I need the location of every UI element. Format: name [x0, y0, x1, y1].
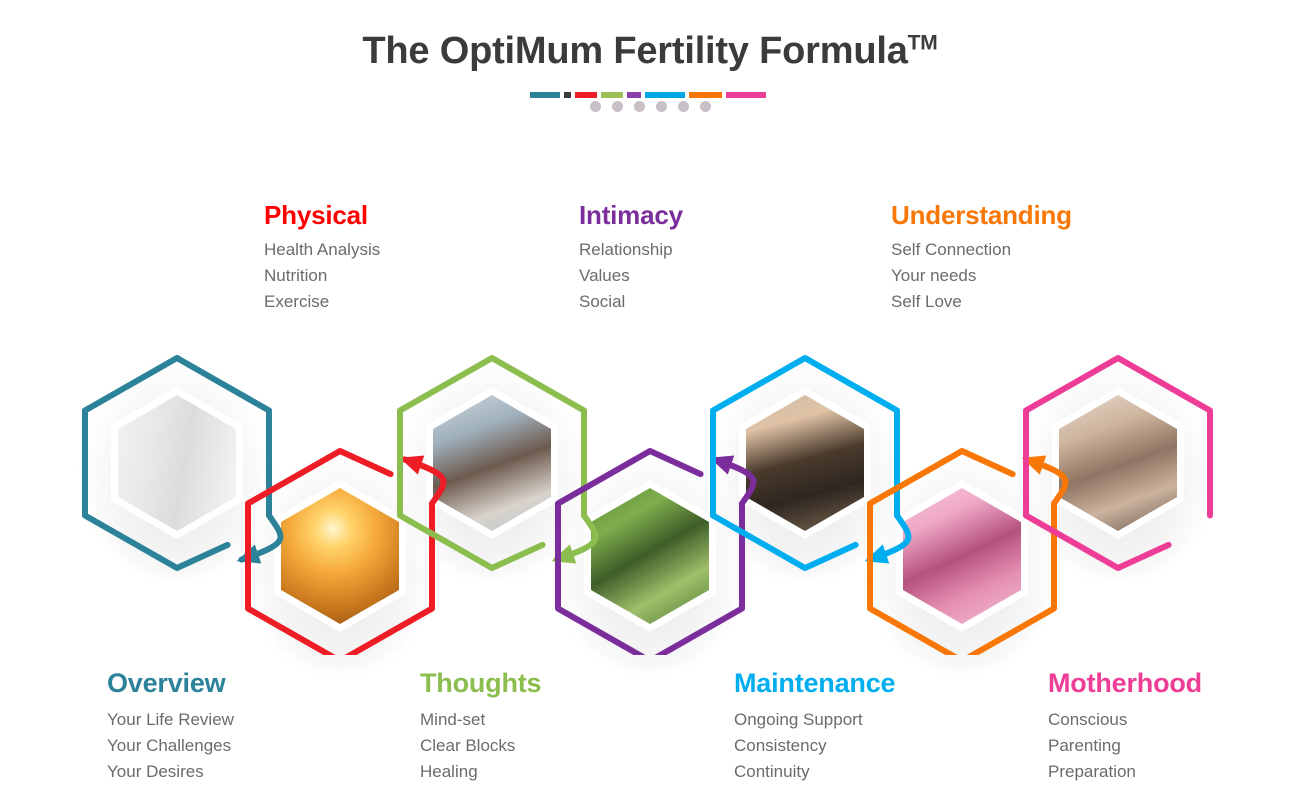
list-item: Your Challenges: [107, 733, 234, 759]
physical-hex-arrow: [404, 459, 443, 503]
list-item: Exercise: [264, 289, 380, 315]
list-item: Your Desires: [107, 759, 234, 785]
list-item: Social: [579, 289, 683, 315]
list-item: Relationship: [579, 237, 683, 263]
column-heading-overview: Overview: [107, 668, 234, 699]
column-thoughts: Thoughts Mind-set Clear Blocks Healing: [420, 668, 541, 785]
dot: [656, 101, 667, 112]
list-item: Self Love: [891, 289, 1072, 315]
column-list-motherhood: Conscious Parenting Preparation: [1048, 707, 1202, 785]
list-item: Mind-set: [420, 707, 541, 733]
column-list-maintenance: Ongoing Support Consistency Continuity: [734, 707, 895, 785]
list-item: Health Analysis: [264, 237, 380, 263]
column-understanding: Understanding Self Connection Your needs…: [891, 200, 1072, 315]
list-item: Continuity: [734, 759, 895, 785]
title-brand: OptiMum: [440, 30, 603, 72]
column-heading-thoughts: Thoughts: [420, 668, 541, 699]
list-item: Parenting: [1048, 733, 1202, 759]
list-item: Conscious: [1048, 707, 1202, 733]
list-item: Preparation: [1048, 759, 1202, 785]
trademark-symbol: TM: [908, 31, 938, 54]
page-title: The OptiMum Fertility FormulaTM: [0, 30, 1300, 73]
column-overview: Overview Your Life Review Your Challenge…: [107, 668, 234, 785]
maintenance-hex-arrow: [869, 516, 908, 560]
column-list-thoughts: Mind-set Clear Blocks Healing: [420, 707, 541, 785]
thoughts-hex-arrow: [556, 516, 595, 560]
physical-hex-outline: [248, 451, 432, 655]
column-heading-maintenance: Maintenance: [734, 668, 895, 699]
list-item: Consistency: [734, 733, 895, 759]
dot: [634, 101, 645, 112]
overview-hex-outline: [85, 358, 269, 568]
title-suffix: Fertility Formula: [603, 30, 908, 72]
list-item: Clear Blocks: [420, 733, 541, 759]
dot: [590, 101, 601, 112]
column-list-understanding: Self Connection Your needs Self Love: [891, 237, 1072, 315]
column-heading-motherhood: Motherhood: [1048, 668, 1202, 699]
column-heading-understanding: Understanding: [891, 200, 1072, 231]
column-heading-physical: Physical: [264, 200, 380, 231]
column-motherhood: Motherhood Conscious Parenting Preparati…: [1048, 668, 1202, 785]
dot: [612, 101, 623, 112]
list-item: Your Life Review: [107, 707, 234, 733]
title-prefix: The: [362, 30, 439, 72]
list-item: Values: [579, 263, 683, 289]
column-list-intimacy: Relationship Values Social: [579, 237, 683, 315]
dot: [678, 101, 689, 112]
column-list-physical: Health Analysis Nutrition Exercise: [264, 237, 380, 315]
dot: [700, 101, 711, 112]
list-item: Healing: [420, 759, 541, 785]
column-heading-intimacy: Intimacy: [579, 200, 683, 231]
understanding-hex-arrow: [1026, 459, 1065, 503]
column-physical: Physical Health Analysis Nutrition Exerc…: [264, 200, 380, 315]
column-intimacy: Intimacy Relationship Values Social: [579, 200, 683, 315]
hexagon-outlines-svg: [0, 355, 1300, 655]
list-item: Your needs: [891, 263, 1072, 289]
column-list-overview: Your Life Review Your Challenges Your De…: [107, 707, 234, 785]
infographic-canvas: The OptiMum Fertility FormulaTM Physical…: [0, 0, 1300, 806]
list-item: Self Connection: [891, 237, 1072, 263]
list-item: Ongoing Support: [734, 707, 895, 733]
list-item: Nutrition: [264, 263, 380, 289]
dot-row: [0, 98, 1300, 116]
column-maintenance: Maintenance Ongoing Support Consistency …: [734, 668, 895, 785]
intimacy-hex-arrow: [714, 459, 753, 503]
